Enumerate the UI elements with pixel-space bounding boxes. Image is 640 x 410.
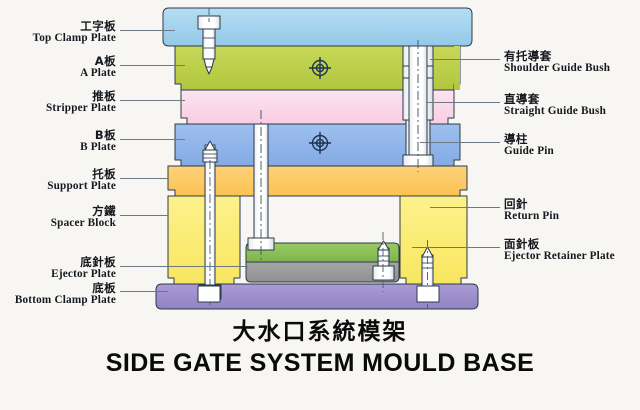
label-return-pin: 回針 Return Pin xyxy=(504,198,559,223)
label-guide-pin-cn: 導柱 xyxy=(504,133,554,145)
part-bottom-screw-socket-right xyxy=(417,286,439,302)
leader-bottom-clamp-plate xyxy=(120,291,168,292)
label-stripper-plate-en: Stripper Plate xyxy=(46,102,116,114)
label-support-plate-en: Support Plate xyxy=(47,180,116,192)
part-cap-screw-tip-top xyxy=(204,59,214,67)
title-chinese: 大水口系統模架 xyxy=(0,312,640,346)
leader-stripper-plate xyxy=(120,100,185,101)
label-bottom-clamp-plate: 底板 Bottom Clamp Plate xyxy=(15,282,116,307)
label-support-plate-cn: 托板 xyxy=(47,168,116,180)
label-b-plate: B板 B Plate xyxy=(80,129,116,154)
title-english: SIDE GATE SYSTEM MOULD BASE xyxy=(0,349,640,378)
leader-guide-pin xyxy=(420,142,500,143)
label-stripper-plate: 推板 Stripper Plate xyxy=(46,90,116,115)
leader-straight-guide-bush xyxy=(426,102,500,103)
diagram-title: 大水口系統模架 SIDE GATE SYSTEM MOULD BASE xyxy=(0,312,640,378)
label-bottom-clamp-plate-cn: 底板 xyxy=(15,282,116,294)
part-cap-screw-shank-top xyxy=(203,29,215,59)
leader-ejector-plate xyxy=(120,266,248,267)
label-bottom-clamp-plate-en: Bottom Clamp Plate xyxy=(15,294,116,306)
label-shoulder-guide-bush-en: Shoulder Guide Bush xyxy=(504,62,610,74)
label-ejector-retainer-plate-cn: 面針板 xyxy=(504,238,615,250)
part-bottom-screw-socket-left xyxy=(198,286,220,302)
label-spacer-block: 方鐵 Spacer Block xyxy=(51,205,116,230)
label-top-clamp-plate: 工字板 Top Clamp Plate xyxy=(33,20,116,45)
part-a-plate-right-step xyxy=(454,46,460,90)
label-b-plate-cn: B板 xyxy=(80,129,116,141)
label-ejector-plate-en: Ejector Plate xyxy=(51,268,116,280)
leader-ejector-retainer-plate xyxy=(412,247,500,248)
label-shoulder-guide-bush-cn: 有托導套 xyxy=(504,50,610,62)
label-a-plate-cn: A板 xyxy=(80,55,116,67)
label-stripper-plate-cn: 推板 xyxy=(46,90,116,102)
label-ejector-retainer-plate-en: Ejector Retainer Plate xyxy=(504,250,615,262)
label-b-plate-en: B Plate xyxy=(80,141,116,153)
leader-support-plate xyxy=(120,178,168,179)
label-return-pin-cn: 回針 xyxy=(504,198,559,210)
part-cap-screw-head-top xyxy=(198,16,220,29)
label-straight-guide-bush-cn: 直導套 xyxy=(504,93,606,105)
label-shoulder-guide-bush: 有托導套 Shoulder Guide Bush xyxy=(504,50,610,75)
label-spacer-block-en: Spacer Block xyxy=(51,217,116,229)
label-straight-guide-bush-en: Straight Guide Bush xyxy=(504,105,606,117)
leader-b-plate xyxy=(120,139,185,140)
leader-spacer-block xyxy=(120,215,168,216)
label-ejector-retainer-plate: 面針板 Ejector Retainer Plate xyxy=(504,238,615,263)
label-return-pin-en: Return Pin xyxy=(504,210,559,222)
label-ejector-plate: 底針板 Ejector Plate xyxy=(51,256,116,281)
label-top-clamp-plate-cn: 工字板 xyxy=(33,20,116,32)
label-top-clamp-plate-en: Top Clamp Plate xyxy=(33,32,116,44)
label-a-plate: A板 A Plate xyxy=(80,55,116,80)
leader-return-pin xyxy=(430,207,500,208)
part-return-pin-collar xyxy=(373,266,394,280)
label-straight-guide-bush: 直導套 Straight Guide Bush xyxy=(504,93,606,118)
leader-shoulder-guide-bush xyxy=(430,59,500,60)
part-spacer-block-left xyxy=(168,196,240,284)
label-guide-pin: 導柱 Guide Pin xyxy=(504,133,554,158)
label-guide-pin-en: Guide Pin xyxy=(504,145,554,157)
label-support-plate: 托板 Support Plate xyxy=(47,168,116,193)
label-a-plate-en: A Plate xyxy=(80,67,116,79)
label-spacer-block-cn: 方鐵 xyxy=(51,205,116,217)
leader-a-plate xyxy=(120,65,185,66)
label-ejector-plate-cn: 底針板 xyxy=(51,256,116,268)
leader-top-clamp-plate xyxy=(120,30,175,31)
